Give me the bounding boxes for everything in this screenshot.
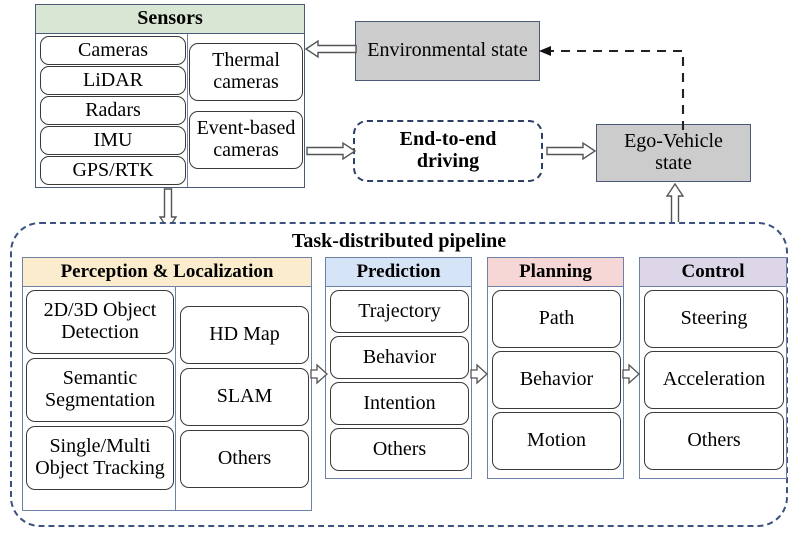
- planning-item-motion[interactable]: Motion: [492, 412, 621, 470]
- sensor-item-gps-rtk[interactable]: GPS/RTK: [40, 156, 186, 185]
- stage-perception-localization: Perception & Localization 2D/3D Object D…: [22, 257, 312, 511]
- perception-item-object-detection[interactable]: 2D/3D Object Detection: [26, 290, 174, 354]
- stage-planning: Planning Path Behavior Motion: [487, 257, 624, 479]
- prediction-item-behavior[interactable]: Behavior: [330, 336, 469, 379]
- perception-item-object-tracking[interactable]: Single/Multi Object Tracking: [26, 426, 174, 490]
- prediction-item-others[interactable]: Others: [330, 428, 469, 471]
- end-to-end-driving-box[interactable]: End-to-end driving: [353, 120, 543, 182]
- sensor-item-thermal-cameras[interactable]: Thermal cameras: [189, 43, 303, 101]
- diagram-canvas: Sensors Cameras LiDAR Radars IMU GPS/RTK…: [0, 0, 797, 536]
- arrow-planning-to-control-icon: [622, 362, 640, 386]
- stage-header-perception: Perception & Localization: [23, 258, 311, 287]
- arrow-sensors-to-e2e-icon: [306, 140, 356, 162]
- sensors-right-column: Thermal cameras Event-based cameras: [189, 43, 303, 183]
- planning-item-behavior[interactable]: Behavior: [492, 351, 621, 409]
- stage-header-prediction: Prediction: [326, 258, 471, 287]
- stage-control: Control Steering Acceleration Others: [639, 257, 787, 479]
- stage-header-control: Control: [640, 258, 786, 287]
- control-item-steering[interactable]: Steering: [644, 290, 784, 348]
- prediction-item-trajectory[interactable]: Trajectory: [330, 290, 469, 333]
- pipeline-title: Task-distributed pipeline: [12, 230, 786, 253]
- perception-divider: [175, 286, 176, 510]
- control-item-acceleration[interactable]: Acceleration: [644, 351, 784, 409]
- prediction-item-intention[interactable]: Intention: [330, 382, 469, 425]
- sensor-item-lidar[interactable]: LiDAR: [40, 66, 186, 95]
- stage-header-planning: Planning: [488, 258, 623, 287]
- sensor-item-cameras[interactable]: Cameras: [40, 36, 186, 65]
- sensors-title: Sensors: [36, 5, 304, 34]
- arrow-env-to-sensors-icon: [305, 38, 357, 60]
- control-item-others[interactable]: Others: [644, 412, 784, 470]
- localization-item-slam[interactable]: SLAM: [180, 368, 309, 426]
- sensors-block: Sensors Cameras LiDAR Radars IMU GPS/RTK…: [35, 4, 305, 188]
- sensor-item-radars[interactable]: Radars: [40, 96, 186, 125]
- environmental-state-box[interactable]: Environmental state: [355, 21, 540, 81]
- arrow-prediction-to-planning-icon: [470, 362, 488, 386]
- planning-item-path[interactable]: Path: [492, 290, 621, 348]
- stage-prediction: Prediction Trajectory Behavior Intention…: [325, 257, 472, 479]
- arrow-perception-to-prediction-icon: [310, 362, 328, 386]
- arrow-e2e-to-ego-icon: [546, 140, 596, 162]
- sensors-left-column: Cameras LiDAR Radars IMU GPS/RTK: [40, 36, 186, 186]
- localization-item-hd-map[interactable]: HD Map: [180, 306, 309, 364]
- sensor-item-event-based-cameras[interactable]: Event-based cameras: [189, 111, 303, 169]
- arrow-pipeline-to-ego-icon: [663, 183, 687, 225]
- perception-item-semantic-segmentation[interactable]: Semantic Segmentation: [26, 358, 174, 422]
- arrow-ego-to-env-feedback-icon: [535, 38, 695, 133]
- localization-item-others[interactable]: Others: [180, 430, 309, 488]
- sensor-item-imu[interactable]: IMU: [40, 126, 186, 155]
